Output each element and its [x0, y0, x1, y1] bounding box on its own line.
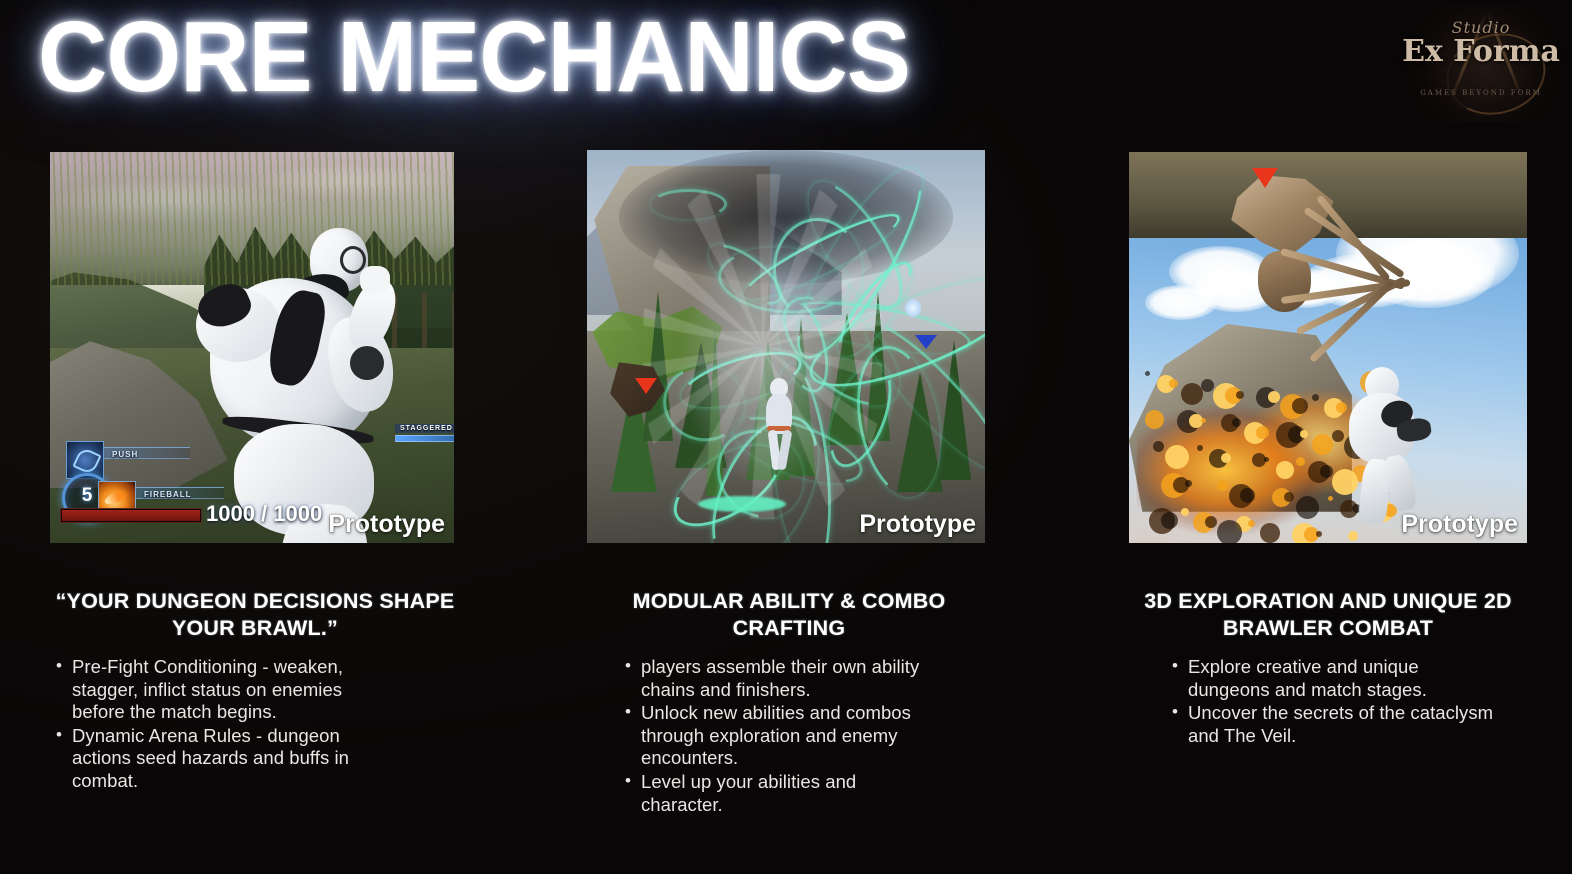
page-title: CORE MECHANICS	[38, 2, 940, 112]
enemy-status-bar	[395, 435, 454, 442]
ember-particle	[1300, 430, 1308, 438]
screenshot-panel-1[interactable]: PUSH 5 FIREBALL 1000 / 1000 STAGGERED Pr…	[50, 152, 454, 543]
ember-particle	[1145, 410, 1164, 429]
ember-particle	[1145, 371, 1150, 376]
title-area: CORE MECHANICS	[38, 2, 978, 122]
logo-tagline: GAMES BEYOND FORM	[1396, 89, 1566, 97]
ember-particle	[1221, 453, 1231, 463]
list-item: Uncover the secrets of the cataclysm and…	[1188, 702, 1498, 747]
ember-particle	[1248, 520, 1255, 527]
list-item: Dynamic Arena Rules - dungeon actions se…	[72, 725, 350, 793]
ember-particle	[1181, 508, 1189, 516]
character-glove	[350, 346, 384, 380]
ability-label-push: PUSH	[112, 450, 138, 459]
ember-particle	[1260, 523, 1280, 543]
ember-particle	[1161, 512, 1178, 529]
screenshot-panel-3[interactable]: Prototype	[1129, 152, 1527, 543]
list-item: Unlock new abilities and combos through …	[641, 702, 941, 770]
screenshot-panel-2[interactable]: Prototype	[587, 150, 985, 543]
prototype-watermark: Prototype	[1401, 510, 1518, 539]
ember-particle	[1217, 480, 1228, 491]
creature-legs	[1169, 172, 1392, 352]
ember-particle	[1268, 391, 1280, 403]
ember-particle	[1256, 426, 1269, 439]
character-arm	[1396, 417, 1433, 444]
character-leg	[777, 429, 793, 470]
prototype-watermark: Prototype	[328, 510, 445, 539]
column-heading: MODULAR ABILITY & COMBO CRAFTING	[585, 588, 993, 642]
list-item: Pre-Fight Conditioning - weaken, stagger…	[72, 656, 350, 724]
vfx-ground-pool	[698, 496, 786, 512]
ember-particle	[1197, 445, 1203, 451]
ember-particle	[1205, 516, 1217, 528]
enemy-status-tag: STAGGERED	[395, 424, 454, 442]
list-item: players assemble their own ability chain…	[641, 656, 941, 701]
slide-canvas: CORE MECHANICS Studio Ex Forma GAMES BEY…	[0, 0, 1572, 874]
column-heading: 3D EXPLORATION AND UNIQUE 2D BRAWLER COM…	[1128, 588, 1528, 642]
character-fist	[360, 266, 390, 294]
player-character	[1335, 367, 1431, 527]
logo-line-name: Ex Forma	[1396, 37, 1566, 67]
column-bullet-list: Explore creative and unique dungeons and…	[1128, 656, 1528, 747]
player-hud: PUSH 5 FIREBALL 1000 / 1000	[58, 433, 348, 537]
list-item: Level up your abilities and character.	[641, 771, 941, 816]
ember-particle	[1169, 379, 1178, 388]
ember-particle	[1320, 465, 1333, 478]
ember-particle	[1181, 383, 1203, 405]
feature-column-1: “YOUR DUNGEON DECISIONS SHAPE YOUR BRAWL…	[40, 588, 470, 794]
ember-particle	[1316, 531, 1322, 537]
ember-particle	[1312, 434, 1333, 455]
ember-particle	[1201, 418, 1206, 423]
column-bullet-list: players assemble their own ability chain…	[585, 656, 993, 816]
boss-creature	[1169, 172, 1392, 352]
ember-particle	[1217, 520, 1242, 543]
ember-particle	[1165, 445, 1189, 469]
ember-particle	[1201, 379, 1214, 392]
enemy-marker-icon	[915, 335, 937, 349]
feature-column-2: MODULAR ABILITY & COMBO CRAFTING players…	[585, 588, 993, 817]
ability-label-fireball: FIREBALL	[144, 490, 192, 499]
feature-column-3: 3D EXPLORATION AND UNIQUE 2D BRAWLER COM…	[1128, 588, 1528, 748]
target-marker-icon	[1252, 168, 1278, 188]
ember-particle	[1276, 461, 1294, 479]
column-heading: “YOUR DUNGEON DECISIONS SHAPE YOUR BRAWL…	[40, 588, 470, 642]
studio-logo: Studio Ex Forma GAMES BEYOND FORM	[1396, 4, 1566, 122]
column-bullet-list: Pre-Fight Conditioning - weaken, stagger…	[40, 656, 470, 793]
health-value-text: 1000 / 1000	[206, 501, 322, 527]
health-bar-track	[60, 508, 202, 523]
list-item: Explore creative and unique dungeons and…	[1188, 656, 1498, 701]
enemy-status-label: STAGGERED	[395, 424, 454, 433]
health-bar-fill	[62, 510, 200, 521]
ember-particle	[1348, 531, 1358, 541]
ember-particle	[1236, 391, 1244, 399]
player-marker-icon	[635, 378, 657, 394]
prototype-watermark: Prototype	[859, 510, 976, 539]
player-character	[762, 378, 798, 470]
